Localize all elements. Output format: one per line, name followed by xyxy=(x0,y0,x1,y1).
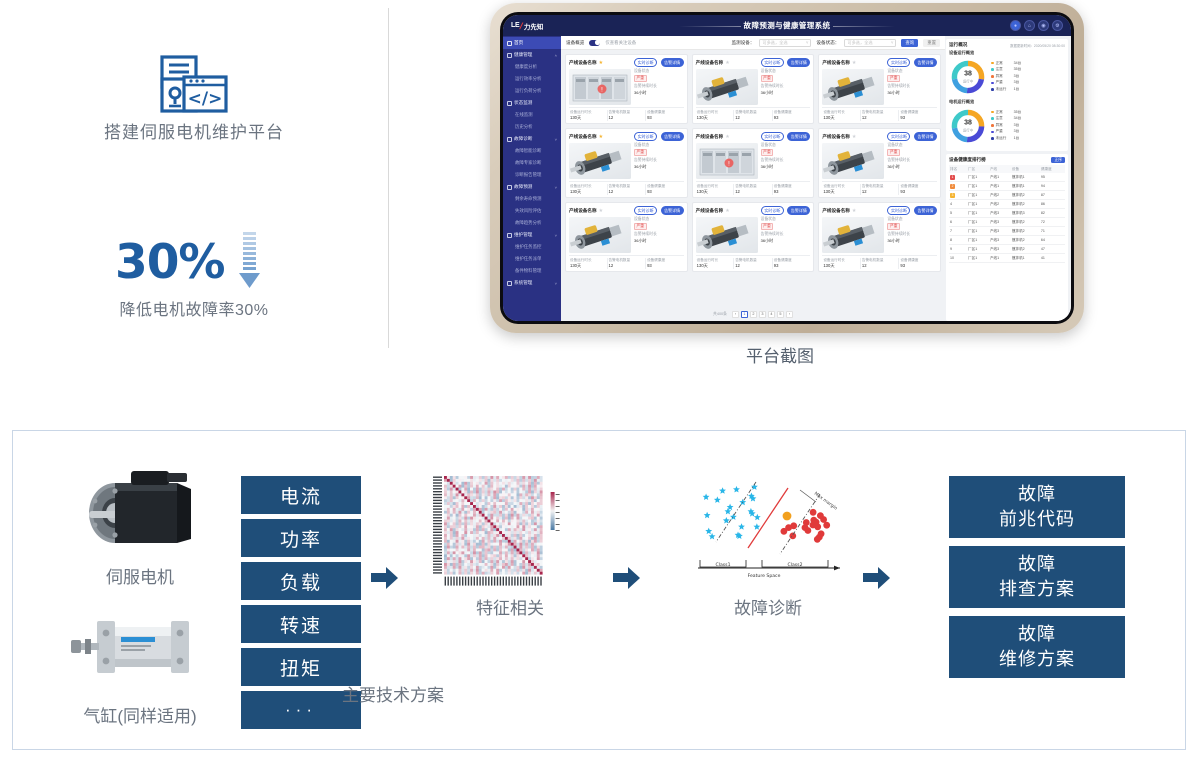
metric-value: 93 xyxy=(774,263,811,268)
favorite-star-icon[interactable]: ★ xyxy=(725,60,729,66)
card-info: 设备状态 严重 告警持续时长 36小时 xyxy=(887,143,937,179)
arrow-right-icon-1 xyxy=(371,565,399,591)
sidebar-item-label: 故障趋势分析 xyxy=(515,220,541,226)
realtime-diagnose-button[interactable]: 实时诊断 xyxy=(887,206,910,215)
pagination-page-1[interactable]: 1 xyxy=(741,311,748,318)
card-metric: 设备健康度 93 xyxy=(773,258,811,269)
card-body: ! 设备状态 严重 告警持续时长 36小时 xyxy=(696,143,811,179)
card-metric: 设备健康度 93 xyxy=(773,110,811,121)
status-badge: 严重 xyxy=(761,149,774,156)
table-row[interactable]: 7 厂区1 产线3 搅拌机2 71 xyxy=(949,227,1065,236)
status-badge: 严重 xyxy=(634,75,647,82)
alarm-detail-button[interactable]: 告警详情 xyxy=(787,58,810,67)
alarm-duration-value: 36小时 xyxy=(761,164,811,170)
sidebar-item-label: 状态监测 xyxy=(514,100,532,106)
motor-run-donut-chart: 38 运行中 xyxy=(949,107,987,145)
device-status-value: 可多选，全选 xyxy=(847,40,872,46)
legend-color-dot xyxy=(991,62,994,65)
status-label: 设备状态 xyxy=(634,69,684,74)
realtime-diagnose-button[interactable]: 实时诊断 xyxy=(634,58,657,67)
device-thumbnail xyxy=(822,69,884,105)
legend-color-dot xyxy=(991,117,994,120)
table-row[interactable]: 2 厂区1 产线1 搅拌机1 94 xyxy=(949,182,1065,191)
legend-label: 严重 xyxy=(996,80,1012,85)
device-thumbnail xyxy=(822,217,884,253)
cell-area: 厂区1 xyxy=(967,236,989,245)
monitor-device-select[interactable]: 可多选，全选 ˅ xyxy=(759,39,811,47)
topbar-icons: ● ⌂ ◉ ⚙ xyxy=(1010,20,1063,31)
donut1-label: 运行中 xyxy=(963,79,973,84)
pagination[interactable]: 共400条 ‹12345› xyxy=(561,307,945,321)
health-rank-title: 设备健康度排行榜 xyxy=(949,157,986,163)
cell-health: 41 xyxy=(1040,254,1065,263)
card-metric: 告警电机数量 12 xyxy=(608,258,647,269)
sort-order-button[interactable]: 正序 xyxy=(1051,157,1065,163)
donut2-number: 38 xyxy=(963,120,973,127)
card-header: 产线设备名称 ★ 实时诊断 告警详情 xyxy=(569,58,684,67)
device-card[interactable]: 产线设备名称 ★ 实时诊断 告警详情 设备状态 严重 告警持续时长 36小时 设 xyxy=(565,128,688,198)
device-card[interactable]: 产线设备名称 ★ 实时诊断 告警详情 设备状态 严重 告警持续时长 36小时 设 xyxy=(692,54,815,124)
legend-color-dot xyxy=(991,111,994,114)
user-icon[interactable]: ● xyxy=(1010,20,1021,31)
alarm-detail-button[interactable]: 告警详情 xyxy=(787,132,810,141)
device-thumbnail xyxy=(822,143,884,179)
pagination-page-4[interactable]: 4 xyxy=(768,311,775,318)
metric-value: 130天 xyxy=(570,189,607,195)
parameter-box-1[interactable]: 功率 xyxy=(241,519,361,557)
servo-motor-caption: 伺服电机 xyxy=(65,563,215,588)
realtime-diagnose-button[interactable]: 实时诊断 xyxy=(887,132,910,141)
device-card[interactable]: 产线设备名称 ★ 实时诊断 告警详情 设备状态 严重 告警持续时长 36小时 设 xyxy=(692,202,815,272)
sidebar-item-8[interactable]: 故障诊断˅ xyxy=(503,133,561,145)
cell-area: 厂区1 xyxy=(967,218,989,227)
output-line-1: 故障 xyxy=(1018,552,1056,577)
sidebar-item-16[interactable]: 维护管理˅ xyxy=(503,229,561,241)
pagination-next[interactable]: › xyxy=(786,311,793,318)
metric-value: 130天 xyxy=(823,189,860,195)
card-device-name: 产线设备名称 xyxy=(822,208,850,214)
card-metric: 设备运行时长 130天 xyxy=(822,110,861,121)
svg-text:</>: </> xyxy=(188,89,223,109)
donut2-legend: 正常 35台 注意 34台 异常 3台 严重 3台 未运行 1台 xyxy=(991,110,1065,143)
legend-value: 3台 xyxy=(1014,129,1020,134)
legend-value: 35台 xyxy=(1014,110,1022,115)
cell-health: 95 xyxy=(1040,173,1065,182)
chevron-down-icon: ˅ xyxy=(891,40,893,45)
donut1-block: 38 运行中 正常 34台 注意 35台 异常 3台 xyxy=(949,58,1065,96)
device-card[interactable]: 产线设备名称 ★ 实时诊断 告警详情 设备状态 严重 告警持续时长 36小时 设 xyxy=(818,54,941,124)
output-line-2: 排查方案 xyxy=(999,577,1075,602)
rank-badge: 3 xyxy=(950,193,955,198)
sidebar-item-3[interactable]: 运行效率分析 xyxy=(503,73,561,85)
favorites-toggle[interactable] xyxy=(589,40,600,46)
arrow-right-icon-3 xyxy=(863,565,891,591)
metric-value: 93 xyxy=(774,115,811,120)
sidebar-item-2[interactable]: 健康度分析 xyxy=(503,61,561,73)
device-card[interactable]: 产线设备名称 ★ 实时诊断 告警详情 设备状态 严重 告警持续时长 36小时 设 xyxy=(818,128,941,198)
home-icon[interactable]: ⌂ xyxy=(1024,20,1035,31)
chevron-icon: ˄ xyxy=(555,53,557,58)
run-overview-card: 运行概况 数据更新时间：2020/05/20 08:30:00 设备运行概览 xyxy=(946,39,1068,151)
realtime-diagnose-button[interactable]: 实时诊断 xyxy=(761,206,784,215)
cell-line: 产线2 xyxy=(989,191,1011,200)
card-metric: 设备运行时长 130天 xyxy=(569,184,608,195)
metric-value: 12 xyxy=(862,115,899,120)
legend-value: 3台 xyxy=(1014,74,1020,79)
cell-area: 厂区1 xyxy=(967,191,989,200)
cell-line: 产线2 xyxy=(989,200,1011,209)
svg-text:Max margin: Max margin xyxy=(813,491,839,512)
card-info: 设备状态 严重 告警持续时长 36小时 xyxy=(761,69,811,105)
legend-row: 未运行 1台 xyxy=(991,136,1065,141)
legend-row: 严重 3台 xyxy=(991,80,1065,85)
cell-area: 厂区1 xyxy=(967,182,989,191)
cell-line: 产线3 xyxy=(989,227,1011,236)
table-row[interactable]: 1 厂区1 产线1 搅拌机1 95 xyxy=(949,173,1065,182)
legend-label: 注意 xyxy=(996,67,1012,72)
cell-area: 厂区1 xyxy=(967,200,989,209)
cell-health: 94 xyxy=(1040,182,1065,191)
fault-diagnosis-caption: 故障诊断 xyxy=(683,594,853,619)
diagnose-icon xyxy=(507,137,512,142)
card-device-name: 产线设备名称 xyxy=(696,60,724,66)
cell-line: 产线3 xyxy=(989,236,1011,245)
card-info: 设备状态 严重 告警持续时长 36小时 xyxy=(761,143,811,179)
filter-bar: 设备概览 仅查看关注设备 监测设备： 可多选，全选 ˅ 设备 xyxy=(561,36,945,50)
card-metric: 告警电机数量 12 xyxy=(861,258,900,269)
stat-number: 30% xyxy=(115,235,225,290)
legend-value: 34台 xyxy=(1014,61,1022,66)
decrease-arrow-icon xyxy=(237,230,261,292)
sidebar-item-label: 运行效率分析 xyxy=(515,76,541,82)
svg-text:Feature Space: Feature Space xyxy=(748,573,781,579)
favorite-star-icon[interactable]: ★ xyxy=(725,134,729,140)
card-body: 设备状态 严重 告警持续时长 36小时 xyxy=(822,69,937,105)
realtime-diagnose-button[interactable]: 实时诊断 xyxy=(761,132,784,141)
status-badge: 严重 xyxy=(634,223,647,230)
device-thumbnail: ! xyxy=(569,69,631,105)
alarm-detail-button[interactable]: 告警详情 xyxy=(914,58,937,67)
card-metric: 设备健康度 93 xyxy=(646,258,684,269)
svg-text:Class1: Class1 xyxy=(715,562,730,568)
sidebar-item-10[interactable]: 故障专家诊断 xyxy=(503,157,561,169)
sidebar-item-6[interactable]: 在线监测 xyxy=(503,109,561,121)
realtime-diagnose-button[interactable]: 实时诊断 xyxy=(761,58,784,67)
app-sidebar[interactable]: 首页健康管理˄健康度分析运行效率分析运行负荷分析状态监测在线监测历史分析故障诊断… xyxy=(503,36,561,321)
sidebar-item-4[interactable]: 运行负荷分析 xyxy=(503,85,561,97)
metric-value: 130天 xyxy=(697,189,734,195)
legend-value: 1台 xyxy=(1014,136,1020,141)
alarm-detail-button[interactable]: 告警详情 xyxy=(787,206,810,215)
left-stats-column: </> 搭建伺服电机维护平台 30% 降低电机故障率30% xyxy=(0,0,388,360)
cell-rank: 7 xyxy=(949,227,967,236)
metric-value: 12 xyxy=(862,189,899,194)
sidebar-item-1[interactable]: 健康管理˄ xyxy=(503,49,561,61)
card-header: 产线设备名称 ★ 实时诊断 告警详情 xyxy=(696,132,811,141)
card-body: 设备状态 严重 告警持续时长 36小时 xyxy=(696,217,811,253)
table-row[interactable]: 5 厂区1 产线3 搅拌机3 82 xyxy=(949,209,1065,218)
fault-diagnosis-step: Max marginClass1Class2Feature Space 故障诊断 xyxy=(683,476,853,619)
output-column: 故障 前兆代码 故障 排查方案 故障 维修方案 xyxy=(949,476,1125,686)
favorite-star-icon[interactable]: ★ xyxy=(852,134,856,140)
sidebar-item-label: 维护任务监控 xyxy=(515,244,541,250)
table-column-header: 产线 xyxy=(989,165,1011,173)
card-footer: 设备运行时长 130天 告警电机数量 12 设备健康度 93 xyxy=(569,181,684,195)
table-row[interactable]: 4 厂区1 产线2 搅拌机2 86 xyxy=(949,200,1065,209)
sidebar-item-11[interactable]: 诊断报告管理 xyxy=(503,169,561,181)
alarm-detail-button[interactable]: 告警详情 xyxy=(661,206,684,215)
table-row[interactable]: 8 厂区1 产线3 搅拌机2 64 xyxy=(949,236,1065,245)
chevron-icon: ˅ xyxy=(555,185,557,190)
legend-color-dot xyxy=(991,124,994,127)
sidebar-item-label: 维护管理 xyxy=(514,232,532,238)
table-header-row: 排名厂区产线设备健康度 xyxy=(949,165,1065,173)
donut1-legend: 正常 34台 注意 35台 异常 3台 严重 3台 未运行 1台 xyxy=(991,61,1065,94)
device-thumbnail xyxy=(569,217,631,253)
card-metric: 设备健康度 93 xyxy=(773,184,811,195)
sidebar-item-12[interactable]: 故障预测˅ xyxy=(503,181,561,193)
parameter-box-0[interactable]: 电流 xyxy=(241,476,361,514)
tablet-screen: LE / 力先知 故障预测与健康管理系统 ● ⌂ ◉ ⚙ xyxy=(503,15,1071,321)
card-metric: 设备健康度 93 xyxy=(646,184,684,195)
rank-badge: 1 xyxy=(950,175,955,180)
favorite-star-icon[interactable]: ★ xyxy=(599,134,603,140)
legend-row: 异常 3台 xyxy=(991,123,1065,128)
reset-button[interactable]: 重置 xyxy=(923,39,940,47)
card-metric: 设备运行时长 130天 xyxy=(822,184,861,195)
sidebar-item-19[interactable]: 备件物料管理 xyxy=(503,265,561,277)
alarm-detail-button[interactable]: 告警详情 xyxy=(661,58,684,67)
legend-value: 1台 xyxy=(1014,87,1020,92)
metric-value: 130天 xyxy=(570,263,607,269)
predict-icon xyxy=(507,185,512,190)
output-box-1[interactable]: 故障 排查方案 xyxy=(949,546,1125,608)
tablet-caption: 平台截图 xyxy=(470,342,1090,367)
pagination-page-3[interactable]: 3 xyxy=(759,311,766,318)
cell-line: 产线3 xyxy=(989,245,1011,254)
sidebar-item-label: 故障诊断 xyxy=(514,136,532,142)
realtime-diagnose-button[interactable]: 实时诊断 xyxy=(634,206,657,215)
rank-badge: 2 xyxy=(950,184,955,189)
top-section: </> 搭建伺服电机维护平台 30% 降低电机故障率30% xyxy=(0,0,1198,378)
sidebar-item-15[interactable]: 故障趋势分析 xyxy=(503,217,561,229)
app-topbar: LE / 力先知 故障预测与健康管理系统 ● ⌂ ◉ ⚙ xyxy=(503,15,1071,36)
cell-area: 厂区1 xyxy=(967,173,989,182)
legend-color-dot xyxy=(991,88,994,91)
alarm-detail-button[interactable]: 告警详情 xyxy=(914,132,937,141)
card-header: 产线设备名称 ★ 实时诊断 告警详情 xyxy=(569,206,684,215)
table-row[interactable]: 6 厂区1 产线3 搅拌机2 72 xyxy=(949,218,1065,227)
pagination-page-2[interactable]: 2 xyxy=(750,311,757,318)
cell-device: 搅拌机1 xyxy=(1011,254,1040,263)
sidebar-item-20[interactable]: 系统管理˅ xyxy=(503,277,561,289)
metric-value: 12 xyxy=(735,189,772,194)
search-button[interactable]: 查询 xyxy=(901,39,918,47)
status-badge: 严重 xyxy=(634,149,647,156)
sidebar-item-9[interactable]: 故障智能诊断 xyxy=(503,145,561,157)
sidebar-item-label: 首页 xyxy=(514,40,523,46)
output-line-2: 前兆代码 xyxy=(999,507,1075,532)
realtime-diagnose-button[interactable]: 实时诊断 xyxy=(887,58,910,67)
alarm-detail-button[interactable]: 告警详情 xyxy=(661,132,684,141)
card-metric: 设备运行时长 130天 xyxy=(696,184,735,195)
metric-value: 93 xyxy=(774,189,811,194)
legend-label: 未运行 xyxy=(996,136,1012,141)
favorite-star-icon[interactable]: ★ xyxy=(852,60,856,66)
card-metric: 设备健康度 93 xyxy=(646,110,684,121)
cell-health: 47 xyxy=(1040,245,1065,254)
chevron-down-icon: ˅ xyxy=(806,40,808,45)
sidebar-item-5[interactable]: 状态监测 xyxy=(503,97,561,109)
favorite-star-icon[interactable]: ★ xyxy=(725,208,729,214)
donut2-title: 电机运行概览 xyxy=(949,99,1065,105)
card-metric: 告警电机数量 12 xyxy=(734,184,773,195)
device-thumbnail xyxy=(696,217,758,253)
metric-value: 12 xyxy=(609,115,646,120)
parameter-box-3[interactable]: 转速 xyxy=(241,605,361,643)
table-body: 1 厂区1 产线1 搅拌机1 95 2 厂区1 产线1 搅拌机1 94 3 厂区… xyxy=(949,173,1065,263)
pagination-page-5[interactable]: 5 xyxy=(777,311,784,318)
cell-rank: 3 xyxy=(949,191,967,200)
stat-caption: 降低电机故障率30% xyxy=(0,296,388,320)
legend-value: 3台 xyxy=(1014,123,1020,128)
device-card[interactable]: 产线设备名称 ★ 实时诊断 告警详情 设备状态 严重 告警持续时长 36小时 设 xyxy=(818,202,941,272)
metric-value: 12 xyxy=(609,263,646,268)
cell-device: 搅拌机1 xyxy=(1011,173,1040,182)
legend-value: 3台 xyxy=(1014,80,1020,85)
device-card[interactable]: 产线设备名称 ★ 实时诊断 告警详情 ! 设备状态 严重 告警持续时长 36小时… xyxy=(565,54,688,124)
fault-classification-scatter: Max marginClass1Class2Feature Space xyxy=(683,476,853,586)
legend-row: 异常 3台 xyxy=(991,74,1065,79)
metric-value: 93 xyxy=(900,115,937,120)
monitor-device-label: 监测设备： xyxy=(731,40,754,46)
cell-rank: 6 xyxy=(949,218,967,227)
cell-device: 搅拌机2 xyxy=(1011,218,1040,227)
favorite-star-icon[interactable]: ★ xyxy=(599,208,603,214)
cell-device: 搅拌机3 xyxy=(1011,209,1040,218)
donut2-center: 38 运行中 xyxy=(963,120,973,133)
run-overview-title: 运行概况 xyxy=(949,42,967,48)
correlation-heatmap xyxy=(425,476,595,586)
favorite-star-icon[interactable]: ★ xyxy=(852,208,856,214)
servo-motor-photo xyxy=(65,459,215,559)
gear-icon[interactable]: ⚙ xyxy=(1052,20,1063,31)
pagination-prev[interactable]: ‹ xyxy=(732,311,739,318)
output-line-1: 故障 xyxy=(1018,622,1056,647)
cell-area: 厂区1 xyxy=(967,209,989,218)
cards-scroll[interactable]: 产线设备名称 ★ 实时诊断 告警详情 ! 设备状态 严重 告警持续时长 36小时… xyxy=(561,50,945,307)
alarm-detail-button[interactable]: 告警详情 xyxy=(914,206,937,215)
alarm-duration-value: 36小时 xyxy=(887,164,937,170)
svg-text:!: ! xyxy=(601,87,603,94)
sidebar-item-label: 健康管理 xyxy=(514,52,532,58)
app-body: 首页健康管理˄健康度分析运行效率分析运行负荷分析状态监测在线监测历史分析故障诊断… xyxy=(503,36,1071,321)
cell-health: 71 xyxy=(1040,227,1065,236)
app-main: 设备概览 仅查看关注设备 监测设备： 可多选，全选 ˅ 设备 xyxy=(561,36,1071,321)
sidebar-item-14[interactable]: 失效风险评估 xyxy=(503,205,561,217)
legend-color-dot xyxy=(991,131,994,134)
card-metric: 设备运行时长 130天 xyxy=(569,110,608,121)
device-card[interactable]: 产线设备名称 ★ 实时诊断 告警详情 ! 设备状态 严重 告警持续时长 36小时… xyxy=(692,128,815,198)
health-rank-head: 设备健康度排行榜 正序 xyxy=(949,157,1065,163)
alarm-duration-value: 36小时 xyxy=(887,238,937,244)
sidebar-item-label: 备件物料管理 xyxy=(515,268,541,274)
status-badge: 严重 xyxy=(887,223,900,230)
cell-health: 72 xyxy=(1040,218,1065,227)
legend-value: 34台 xyxy=(1014,116,1022,121)
sidebar-item-18[interactable]: 维护任务派单 xyxy=(503,253,561,265)
sidebar-item-17[interactable]: 维护任务监控 xyxy=(503,241,561,253)
sidebar-item-0[interactable]: 首页 xyxy=(503,37,561,49)
sidebar-item-7[interactable]: 历史分析 xyxy=(503,121,561,133)
realtime-diagnose-button[interactable]: 实时诊断 xyxy=(634,132,657,141)
parameter-box-2[interactable]: 负载 xyxy=(241,562,361,600)
card-metric: 告警电机数量 12 xyxy=(861,110,900,121)
alarm-duration-label: 告警持续时长 xyxy=(761,84,811,89)
output-box-2[interactable]: 故障 维修方案 xyxy=(949,616,1125,678)
arrow-right-icon-2 xyxy=(613,565,641,591)
device-status-select[interactable]: 可多选，全选 ˅ xyxy=(844,39,896,47)
metric-value: 12 xyxy=(862,263,899,268)
output-box-0[interactable]: 故障 前兆代码 xyxy=(949,476,1125,538)
device-thumbnail: ! xyxy=(696,143,758,179)
main-tech-caption: 主要技术方案 xyxy=(13,681,773,706)
cell-area: 厂区1 xyxy=(967,254,989,263)
legend-label: 正常 xyxy=(996,61,1012,66)
sidebar-item-label: 在线监测 xyxy=(515,112,533,118)
cell-device: 搅拌机1 xyxy=(1011,182,1040,191)
table-row[interactable]: 9 厂区1 产线3 搅拌机2 47 xyxy=(949,245,1065,254)
device-status-label: 设备状态： xyxy=(816,40,839,46)
legend-row: 正常 35台 xyxy=(991,110,1065,115)
app-title: 故障预测与健康管理系统 xyxy=(503,20,1071,31)
card-metric: 设备运行时长 130天 xyxy=(696,110,735,121)
cell-device: 搅拌机2 xyxy=(1011,191,1040,200)
metric-value: 93 xyxy=(900,263,937,268)
cell-rank: 8 xyxy=(949,236,967,245)
svg-text:!: ! xyxy=(727,161,729,168)
status-label: 设备状态 xyxy=(761,143,811,148)
card-metric: 设备健康度 93 xyxy=(899,258,937,269)
cell-rank: 1 xyxy=(949,173,967,182)
vertical-divider xyxy=(388,8,389,348)
card-footer: 设备运行时长 130天 告警电机数量 12 设备健康度 93 xyxy=(696,181,811,195)
status-badge: 严重 xyxy=(887,75,900,82)
card-metric: 设备运行时长 130天 xyxy=(822,258,861,269)
favorite-star-icon[interactable]: ★ xyxy=(599,60,603,66)
sidebar-item-13[interactable]: 剩余寿命预测 xyxy=(503,193,561,205)
donut1-number: 38 xyxy=(963,71,973,78)
card-footer: 设备运行时长 130天 告警电机数量 12 设备健康度 93 xyxy=(822,255,937,269)
alarm-duration-value: 36小时 xyxy=(761,238,811,244)
table-column-header: 设备 xyxy=(1011,165,1040,173)
card-metric: 设备健康度 93 xyxy=(899,110,937,121)
health-rank-table: 排名厂区产线设备健康度 1 厂区1 产线1 搅拌机1 95 2 厂区1 产线1 … xyxy=(949,165,1065,263)
legend-color-dot xyxy=(991,82,994,85)
bell-icon[interactable]: ◉ xyxy=(1038,20,1049,31)
table-row[interactable]: 10 厂区1 产线1 搅拌机1 41 xyxy=(949,254,1065,263)
legend-color-dot xyxy=(991,68,994,71)
table-row[interactable]: 3 厂区1 产线2 搅拌机2 87 xyxy=(949,191,1065,200)
sidebar-item-label: 故障智能诊断 xyxy=(515,148,541,154)
alarm-duration-value: 36小时 xyxy=(634,90,684,96)
chevron-icon: ˅ xyxy=(555,281,557,286)
metric-value: 93 xyxy=(647,115,684,120)
alarm-duration-label: 告警持续时长 xyxy=(887,84,937,89)
device-card[interactable]: 产线设备名称 ★ 实时诊断 告警详情 设备状态 严重 告警持续时长 36小时 设 xyxy=(565,202,688,272)
card-header: 产线设备名称 ★ 实时诊断 告警详情 xyxy=(822,132,937,141)
metric-value: 130天 xyxy=(697,115,734,121)
